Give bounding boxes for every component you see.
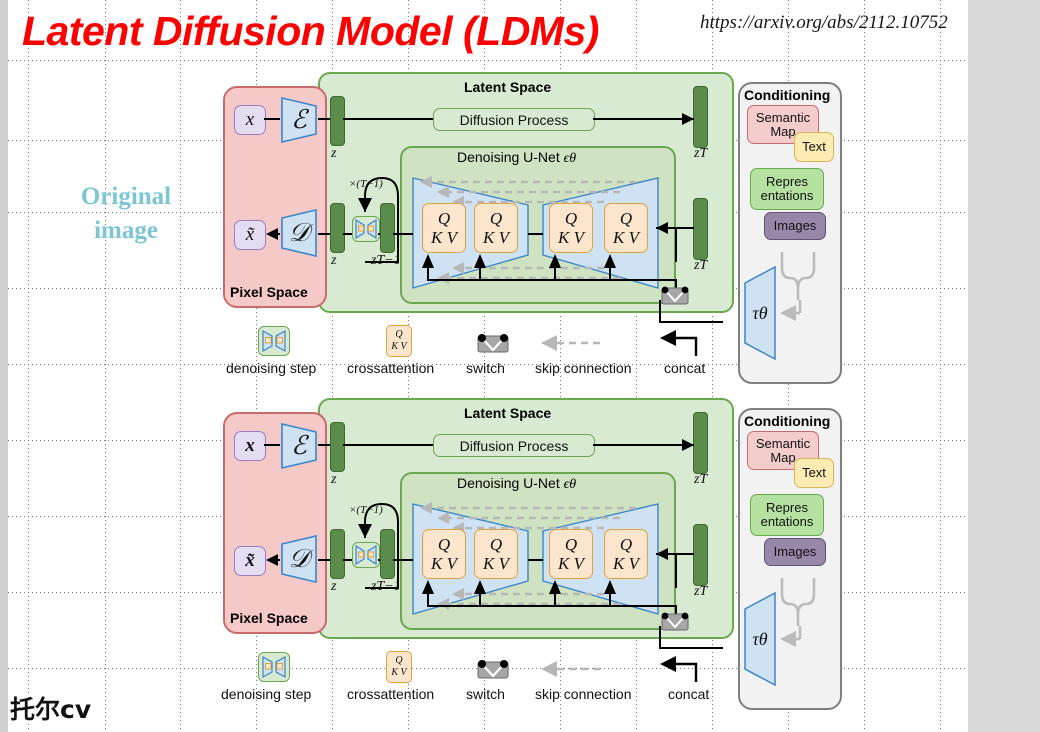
decoder-glyph-2: 𝒟 [280, 534, 318, 584]
diffusion-process-box: Diffusion Process [433, 108, 595, 131]
attention-block-3: Q K V [549, 203, 593, 253]
latent-bar-z-t-minus-1-label-2: zT−1 [371, 579, 401, 595]
semantic-map-line2: Map [770, 125, 795, 139]
attention-kv-1-2: K V [431, 555, 457, 572]
latent-bar-z-T-bottom-2 [693, 524, 708, 586]
denoising-unet-label-2: Denoising U-Net ϵθ [457, 475, 576, 493]
latent-bar-z-bottom-2 [330, 529, 345, 579]
conditioning-chip-text-2: Text [794, 458, 834, 488]
decoder-glyph: 𝒟 [280, 208, 318, 258]
conditioning-chip-text: Text [794, 132, 834, 162]
slide-stage: Latent Diffusion Model (LDMs) https://ar… [0, 0, 1040, 732]
unet-label-text-2: Denoising U-Net [457, 475, 560, 491]
latent-bar-z-t-minus-1-label: zT−1 [371, 253, 401, 269]
attention-q-4-2: Q [620, 536, 632, 553]
attention-kv-3: K V [558, 229, 584, 246]
latent-bar-z-bottom-label: z [331, 253, 336, 269]
latent-bar-z-t-minus-1-2 [380, 529, 395, 579]
representations-line1-2: Repres [766, 501, 808, 515]
unet-label-math: ϵθ [564, 151, 577, 166]
legend-concat-icon-2 [658, 654, 708, 684]
attention-block-2-2: Q K V [474, 529, 518, 579]
legend-switch-label-2: switch [466, 686, 505, 702]
ldm-diagram-bottom: Latent Space Diffusion Process Denoising… [8, 326, 968, 716]
legend-denoising-step-icon-2 [258, 652, 290, 682]
output-x-box-2: x̃ [234, 546, 266, 576]
legend-concat-label-2: concat [668, 686, 709, 702]
encoder-trapezoid-2: ℰ [280, 422, 318, 470]
conditioning-chip-images: Images [764, 212, 826, 240]
attention-block-3-2: Q K V [549, 529, 593, 579]
attention-kv-4-2: K V [613, 555, 639, 572]
pixel-space-label-2: Pixel Space [230, 610, 308, 626]
conditioning-chip-representations-2: Repres entations [750, 494, 824, 536]
attention-kv-2-2: K V [483, 555, 509, 572]
latent-bar-z-T-top-label-2: zT [694, 472, 707, 488]
attention-q-1-2: Q [438, 536, 450, 553]
legend-denoising-step-label-2: denoising step [221, 686, 311, 702]
encoder-trapezoid: ℰ [280, 96, 318, 144]
representations-line2-2: entations [761, 515, 814, 529]
legend-skip-connection-label-2: skip connection [535, 686, 632, 702]
latent-space-label: Latent Space [464, 79, 551, 95]
latent-bar-z-bottom-label-2: z [331, 579, 336, 595]
encoder-glyph-2: ℰ [280, 422, 318, 470]
attention-block-4: Q K V [604, 203, 648, 253]
legend-crossattention-label-2: crossattention [347, 686, 434, 702]
repeat-count-label-2: ×(T−1) [349, 504, 383, 516]
legend-crossattention-icon-2: Q K V [386, 651, 412, 683]
conditioning-chip-images-2: Images [764, 538, 826, 566]
attention-kv-3-2: K V [558, 555, 584, 572]
representations-line2: entations [761, 189, 814, 203]
legend-crossattention-q-2: Q [395, 656, 402, 666]
attention-block-1: Q K V [422, 203, 466, 253]
slide-canvas: Latent Diffusion Model (LDMs) https://ar… [8, 0, 968, 732]
legend-switch-icon-2 [474, 657, 514, 681]
left-gutter [0, 0, 8, 732]
legend-skip-connection-icon-2 [535, 659, 615, 679]
latent-bar-z-top-label: z [331, 146, 336, 162]
conditioning-label: Conditioning [744, 87, 830, 103]
conditioning-label-2: Conditioning [744, 413, 830, 429]
semantic-map-line1: Semantic [756, 111, 810, 125]
denoising-step-icon-inline [352, 216, 380, 242]
latent-bar-z-top-label-2: z [331, 472, 336, 488]
latent-bar-z-T-top-2 [693, 412, 708, 474]
tau-glyph-2: τθ [741, 591, 779, 687]
semantic-map-line1-2: Semantic [756, 437, 810, 451]
input-x-box-2: x [234, 431, 266, 461]
denoising-unet-label: Denoising U-Net ϵθ [457, 149, 576, 167]
latent-bar-z-T-bottom [693, 198, 708, 260]
decoder-trapezoid: 𝒟 [280, 208, 318, 258]
attention-block-4-2: Q K V [604, 529, 648, 579]
attention-q-4: Q [620, 210, 632, 227]
encoder-glyph: ℰ [280, 96, 318, 144]
latent-bar-z-t-minus-1 [380, 203, 395, 253]
latent-bar-z-top [330, 96, 345, 146]
attention-q-2: Q [490, 210, 502, 227]
repeat-count-label: ×(T−1) [349, 178, 383, 190]
latent-space-label-2: Latent Space [464, 405, 551, 421]
conditioning-chip-representations: Repres entations [750, 168, 824, 210]
latent-bar-z-T-bottom-label-2: zT [694, 584, 707, 600]
attention-q-3-2: Q [565, 536, 577, 553]
denoising-step-icon-inline-2 [352, 542, 380, 568]
latent-bar-z-top-2 [330, 422, 345, 472]
unet-label-math-2: ϵθ [564, 477, 577, 492]
attention-block-2: Q K V [474, 203, 518, 253]
attention-q-2-2: Q [490, 536, 502, 553]
decoder-trapezoid-2: 𝒟 [280, 534, 318, 584]
attention-kv-2: K V [483, 229, 509, 246]
latent-bar-z-bottom [330, 203, 345, 253]
latent-bar-z-T-bottom-label: zT [694, 258, 707, 274]
unet-label-text: Denoising U-Net [457, 149, 560, 165]
latent-bar-z-T-top-label: zT [694, 146, 707, 162]
attention-q-1: Q [438, 210, 450, 227]
output-x-box: x̃ [234, 220, 266, 250]
attention-block-1-2: Q K V [422, 529, 466, 579]
tau-trapezoid-2: τθ [741, 591, 779, 687]
attention-kv-4: K V [613, 229, 639, 246]
representations-line1: Repres [766, 175, 808, 189]
diffusion-process-box-2: Diffusion Process [433, 434, 595, 457]
attention-kv-1: K V [431, 229, 457, 246]
legend-crossattention-kv-2: K V [391, 668, 406, 678]
pixel-space-label: Pixel Space [230, 284, 308, 300]
semantic-map-line2-2: Map [770, 451, 795, 465]
input-x-box: x [234, 105, 266, 135]
attention-q-3: Q [565, 210, 577, 227]
latent-bar-z-T-top [693, 86, 708, 148]
